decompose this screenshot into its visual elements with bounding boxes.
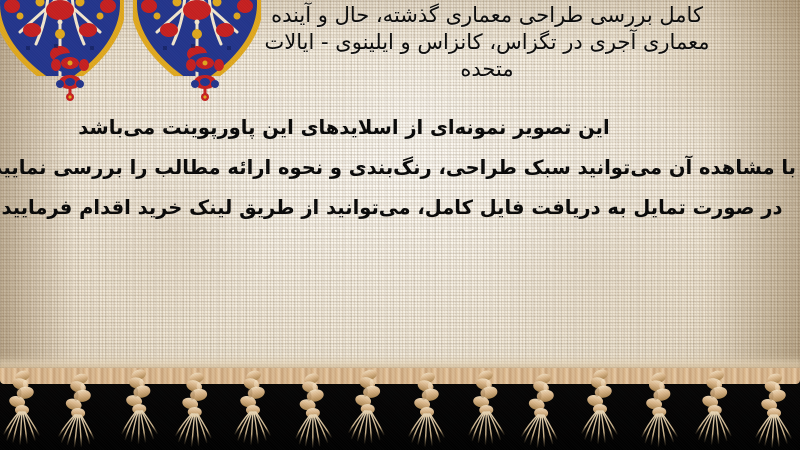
title-line-1: کامل بررسی طراحی معماری گذشته، حال و آین… (182, 2, 792, 29)
presentation-slide: کامل بررسی طراحی معماری گذشته، حال و آین… (0, 0, 800, 450)
slide-text-layer: کامل بررسی طراحی معماری گذشته، حال و آین… (0, 0, 800, 380)
title-line-3: متحده (182, 56, 792, 83)
carpet-fringe-tassels (0, 360, 800, 450)
body-line-3: در صورت تمایل به دریافت فایل کامل، می‌تو… (0, 188, 800, 228)
title-line-2: معماری آجری در تگزاس، کانزاس و ایلینوی -… (182, 29, 792, 56)
slide-body: این تصویر نمونه‌ای از اسلایدهای این پاور… (0, 108, 800, 228)
body-line-2: با مشاهده آن می‌توانید سبک طراحی، رنگ‌بن… (0, 148, 800, 188)
body-line-1: این تصویر نمونه‌ای از اسلایدهای این پاور… (0, 108, 800, 148)
slide-title: کامل بررسی طراحی معماری گذشته، حال و آین… (182, 2, 792, 83)
